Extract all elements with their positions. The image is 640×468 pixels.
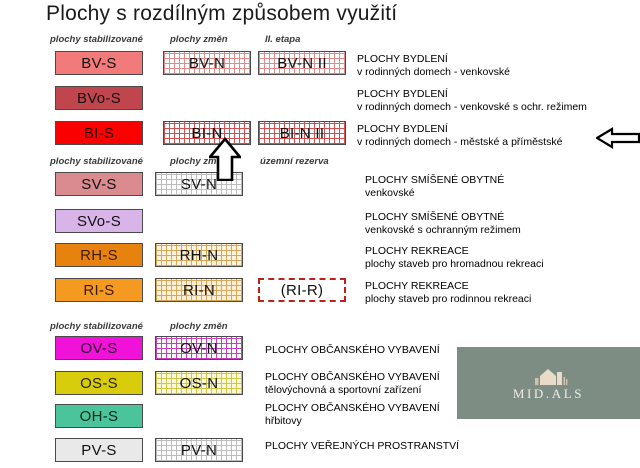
description-line2-svo: venkovské s ochranným režimem [365, 224, 521, 237]
swatch-label-pv-n: PV-N [181, 443, 217, 458]
description-line2-bv: v rodinných domech - venkovské [357, 66, 510, 79]
swatch-bv-s[interactable]: BV-S [55, 51, 143, 75]
description-line1-oh: PLOCHY OBČANSKÉHO VYBAVENÍ [265, 402, 440, 415]
column-caption-stabilizovane-2: plochy stabilizované [50, 156, 143, 167]
swatch-bvo-s[interactable]: BVo-S [55, 86, 143, 110]
description-line1-ov: PLOCHY OBČANSKÉHO VYBAVENÍ [265, 344, 440, 357]
description-line1-svo: PLOCHY SMÍŠENÉ OBYTNÉ [365, 211, 521, 224]
description-ov: PLOCHY OBČANSKÉHO VYBAVENÍ [265, 344, 440, 357]
description-line2-bvo: v rodinných domech - venkovské s ochr. r… [357, 101, 587, 114]
swatch-label-ov-n: OV-N [180, 341, 218, 356]
description-os: PLOCHY OBČANSKÉHO VYBAVENÍ tělovýchovná … [265, 371, 440, 396]
description-svo: PLOCHY SMÍŠENÉ OBYTNÉ venkovské s ochran… [365, 211, 521, 236]
description-line2-os: tělovýchovná a sportovní zařízení [265, 384, 440, 397]
swatch-os-n[interactable]: OS-N [155, 371, 243, 395]
swatch-ri-s[interactable]: RI-S [55, 278, 143, 302]
swatch-ri-n[interactable]: RI-N [155, 278, 243, 302]
description-line1-bvo: PLOCHY BYDLENÍ [357, 88, 587, 101]
description-sv: PLOCHY SMÍŠENÉ OBYTNÉ venkovské [365, 174, 504, 199]
description-line1-bv: PLOCHY BYDLENÍ [357, 53, 510, 66]
watermark-midals: MID.ALS [457, 347, 640, 419]
swatch-rh-n[interactable]: RH-N [155, 243, 243, 267]
swatch-label-os-n: OS-N [180, 376, 219, 391]
swatch-label-bv-n: BV-N [189, 56, 225, 71]
swatch-label-svo-s: SVo-S [77, 214, 121, 229]
watermark-text: MID.ALS [513, 386, 584, 402]
description-line2-bi: v rodinných domech - městské a příměstsk… [357, 136, 562, 149]
column-caption-stabilizovane-1: plochy stabilizované [50, 34, 143, 45]
page-title: Plochy s rozdílným způsobem využití [46, 2, 397, 26]
arrow-left-pointer [596, 126, 640, 150]
swatch-label-bvo-s: BVo-S [77, 91, 121, 106]
swatch-label-rh-s: RH-S [80, 248, 118, 263]
swatch-bv-n[interactable]: BV-N [163, 51, 251, 75]
column-caption-etapa-1: II. etapa [265, 34, 300, 45]
description-line1-rh: PLOCHY REKREACE [365, 245, 544, 258]
swatch-svo-s[interactable]: SVo-S [55, 209, 143, 233]
swatch-label-sv-s: SV-S [81, 177, 116, 192]
swatch-bi-s[interactable]: BI-S [55, 121, 143, 145]
swatch-bi-n-ii[interactable]: BI-N II [258, 121, 346, 145]
description-line2-oh: hřbitovy [265, 415, 440, 428]
column-caption-rezerva: územní rezerva [260, 156, 329, 167]
swatch-label-bi-s: BI-S [84, 126, 114, 141]
description-pv: PLOCHY VEŘEJNÝCH PROSTRANSTVÍ [265, 440, 459, 453]
swatch-label-ri-s: RI-S [83, 283, 114, 298]
swatch-ov-n[interactable]: OV-N [155, 336, 243, 360]
description-bv: PLOCHY BYDLENÍ v rodinných domech - venk… [357, 53, 510, 78]
arrow-up-pointer [209, 137, 241, 181]
swatch-ri-r-rezerva[interactable]: (RI-R) [258, 278, 346, 302]
swatch-label-ri-r: (RI-R) [281, 283, 324, 298]
column-caption-stabilizovane-3: plochy stabilizované [50, 321, 143, 332]
swatch-label-oh-s: OH-S [80, 409, 119, 424]
swatch-ov-s[interactable]: OV-S [55, 336, 143, 360]
swatch-label-ov-s: OV-S [80, 341, 117, 356]
swatch-label-bi-n-ii: BI-N II [280, 126, 325, 141]
swatch-label-ri-n: RI-N [183, 283, 215, 298]
swatch-label-os-s: OS-S [80, 376, 118, 391]
swatch-label-bv-n-ii: BV-N II [277, 56, 327, 71]
description-line2-sv: venkovské [365, 187, 504, 200]
swatch-label-bv-s: BV-S [81, 56, 116, 71]
swatch-pv-n[interactable]: PV-N [155, 438, 243, 462]
description-oh: PLOCHY OBČANSKÉHO VYBAVENÍ hřbitovy [265, 402, 440, 427]
building-roof-icon [526, 365, 572, 385]
description-line1-bi: PLOCHY BYDLENÍ [357, 123, 562, 136]
column-caption-zmen-3: plochy změn [170, 321, 228, 332]
swatch-bv-n-ii[interactable]: BV-N II [258, 51, 346, 75]
description-line1-ri: PLOCHY REKREACE [365, 280, 531, 293]
swatch-sv-s[interactable]: SV-S [55, 172, 143, 196]
swatch-os-s[interactable]: OS-S [55, 371, 143, 395]
description-line2-rh: plochy staveb pro hromadnou rekreaci [365, 258, 544, 271]
description-rh: PLOCHY REKREACE plochy staveb pro hromad… [365, 245, 544, 270]
description-line1-os: PLOCHY OBČANSKÉHO VYBAVENÍ [265, 371, 440, 384]
swatch-oh-s[interactable]: OH-S [55, 404, 143, 428]
description-bvo: PLOCHY BYDLENÍ v rodinných domech - venk… [357, 88, 587, 113]
description-line1-sv: PLOCHY SMÍŠENÉ OBYTNÉ [365, 174, 504, 187]
swatch-label-pv-s: PV-S [81, 443, 116, 458]
description-ri: PLOCHY REKREACE plochy staveb pro rodinn… [365, 280, 531, 305]
swatch-rh-s[interactable]: RH-S [55, 243, 143, 267]
description-bi: PLOCHY BYDLENÍ v rodinných domech - měst… [357, 123, 562, 148]
swatch-label-rh-n: RH-N [180, 248, 219, 263]
description-line1-pv: PLOCHY VEŘEJNÝCH PROSTRANSTVÍ [265, 440, 459, 453]
swatch-pv-s[interactable]: PV-S [55, 438, 143, 462]
column-caption-zmen-1: plochy změn [170, 34, 228, 45]
legend-page: Plochy s rozdílným způsobem využití ploc… [0, 0, 640, 468]
description-line2-ri: plochy staveb pro rodinnou rekreaci [365, 293, 531, 306]
